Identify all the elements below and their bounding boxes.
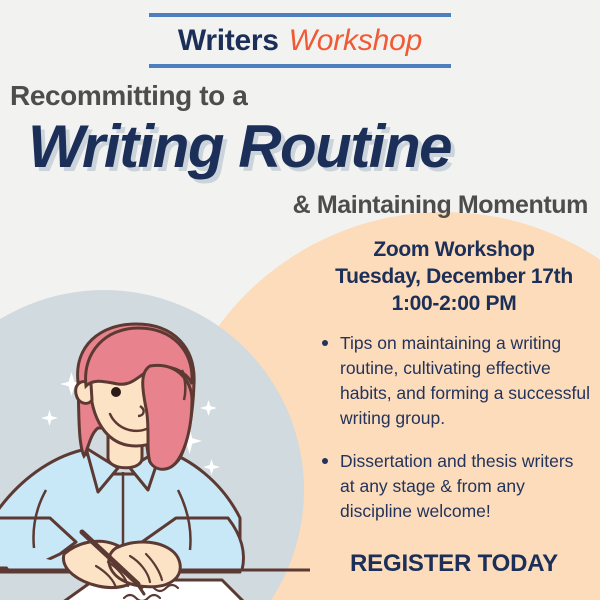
brand-primary: Writers [178,24,279,57]
bullet-dot-icon [322,340,328,346]
list-item-text: Dissertation and thesis writers at any s… [340,451,573,521]
event-date: Tuesday, December 17th [318,263,590,290]
left-eye [111,387,121,397]
poster-canvas: WritersWorkshop Recommitting to a Writin… [0,0,600,600]
list-item-text: Tips on maintaining a writing routine, c… [340,333,590,428]
woman-writing-illustration [0,322,310,600]
event-format: Zoom Workshop [318,236,590,263]
header-rule-bottom [149,64,451,68]
brand-secondary: Workshop [289,24,422,57]
title-kicker: Recommitting to a [10,80,247,112]
brand-lockup: WritersWorkshop [0,17,600,64]
list-item: Tips on maintaining a writing routine, c… [318,331,590,431]
register-today-cta[interactable]: REGISTER TODAY [318,550,590,578]
event-time: 1:00-2:00 PM [318,290,590,317]
bullet-dot-icon [322,458,328,464]
title-subtitle: & Maintaining Momentum [293,191,588,220]
list-item: Dissertation and thesis writers at any s… [318,449,590,524]
event-info-block: Zoom Workshop Tuesday, December 17th 1:0… [318,236,590,542]
header-band: WritersWorkshop [0,0,600,68]
page-title: Writing Routine [28,112,451,181]
detail-bullet-list: Tips on maintaining a writing routine, c… [318,331,590,524]
